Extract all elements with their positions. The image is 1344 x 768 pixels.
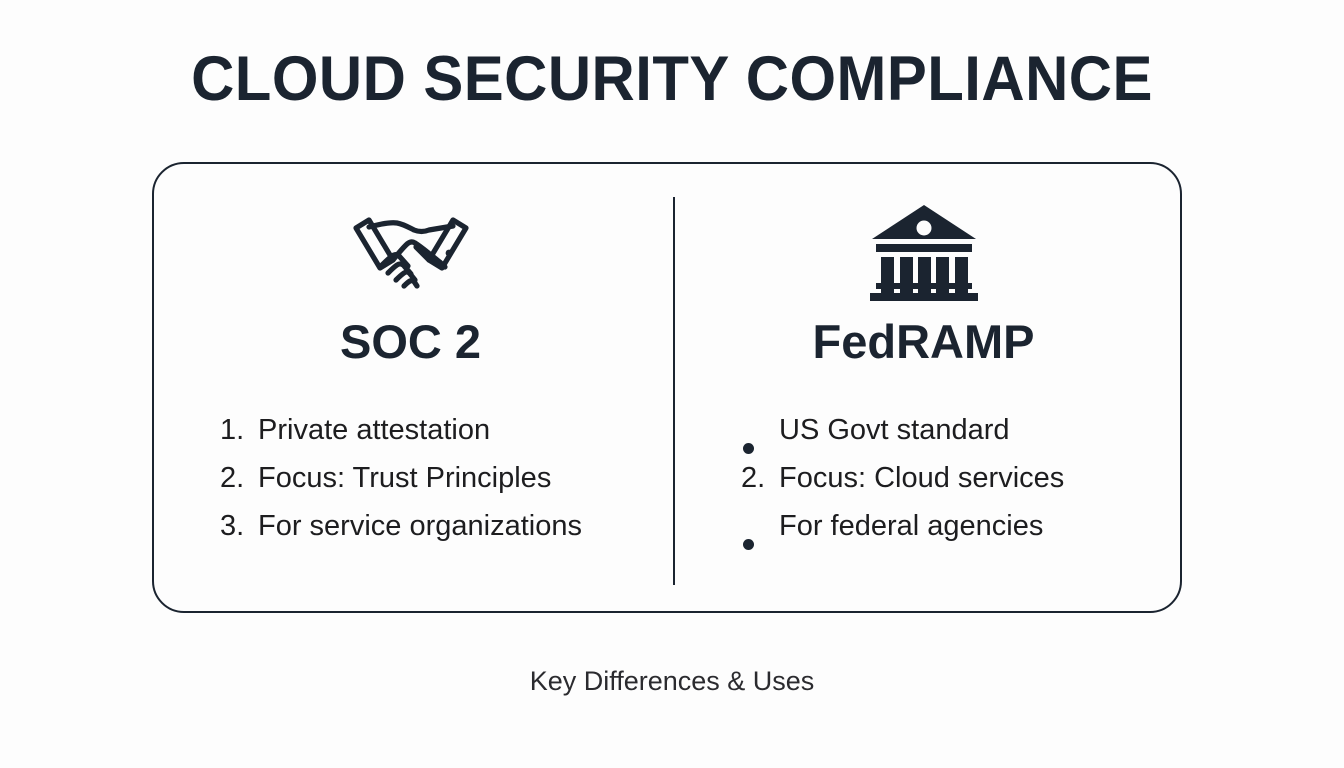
list-item: • US Govt standard [741, 406, 1064, 454]
list-item: 2. Focus: Trust Principles [220, 454, 582, 502]
list-item-text: Private attestation [258, 406, 490, 454]
vertical-divider [673, 197, 675, 585]
list-item-text: Focus: Trust Principles [258, 454, 551, 502]
column-heading-fedramp: FedRAMP [667, 316, 1180, 368]
feature-list-soc2: 1. Private attestation 2. Focus: Trust P… [220, 406, 582, 550]
list-marker-bullet: • [741, 415, 779, 463]
list-marker: 2. [220, 454, 258, 502]
list-item: 2. Focus: Cloud services [741, 454, 1064, 502]
handshake-icon [154, 196, 667, 306]
list-item: • For federal agencies [741, 502, 1064, 550]
feature-list-fedramp: • US Govt standard 2. Focus: Cloud servi… [741, 406, 1064, 550]
page-title: CLOUD SECURITY COMPLIANCE [34, 46, 1311, 112]
list-item-text: Focus: Cloud services [779, 454, 1064, 502]
list-marker: 3. [220, 502, 258, 550]
comparison-columns: SOC 2 1. Private attestation 2. Focus: T… [154, 164, 1180, 611]
list-item-text: US Govt standard [779, 406, 1010, 454]
list-item-text: For service organizations [258, 502, 582, 550]
list-item-text: For federal agencies [779, 502, 1043, 550]
column-soc2: SOC 2 1. Private attestation 2. Focus: T… [154, 164, 667, 611]
list-marker: 1. [220, 406, 258, 454]
comparison-card: SOC 2 1. Private attestation 2. Focus: T… [152, 162, 1182, 613]
list-item: 3. For service organizations [220, 502, 582, 550]
list-marker-bullet: • [741, 511, 779, 559]
footer-caption: Key Differences & Uses [0, 666, 1344, 697]
column-heading-soc2: SOC 2 [154, 316, 667, 368]
list-item: 1. Private attestation [220, 406, 582, 454]
column-fedramp: FedRAMP • US Govt standard 2. Focus: Clo… [667, 164, 1180, 611]
bank-icon [667, 196, 1180, 306]
slide-canvas: CLOUD SECURITY COMPLIANCE [0, 0, 1344, 768]
